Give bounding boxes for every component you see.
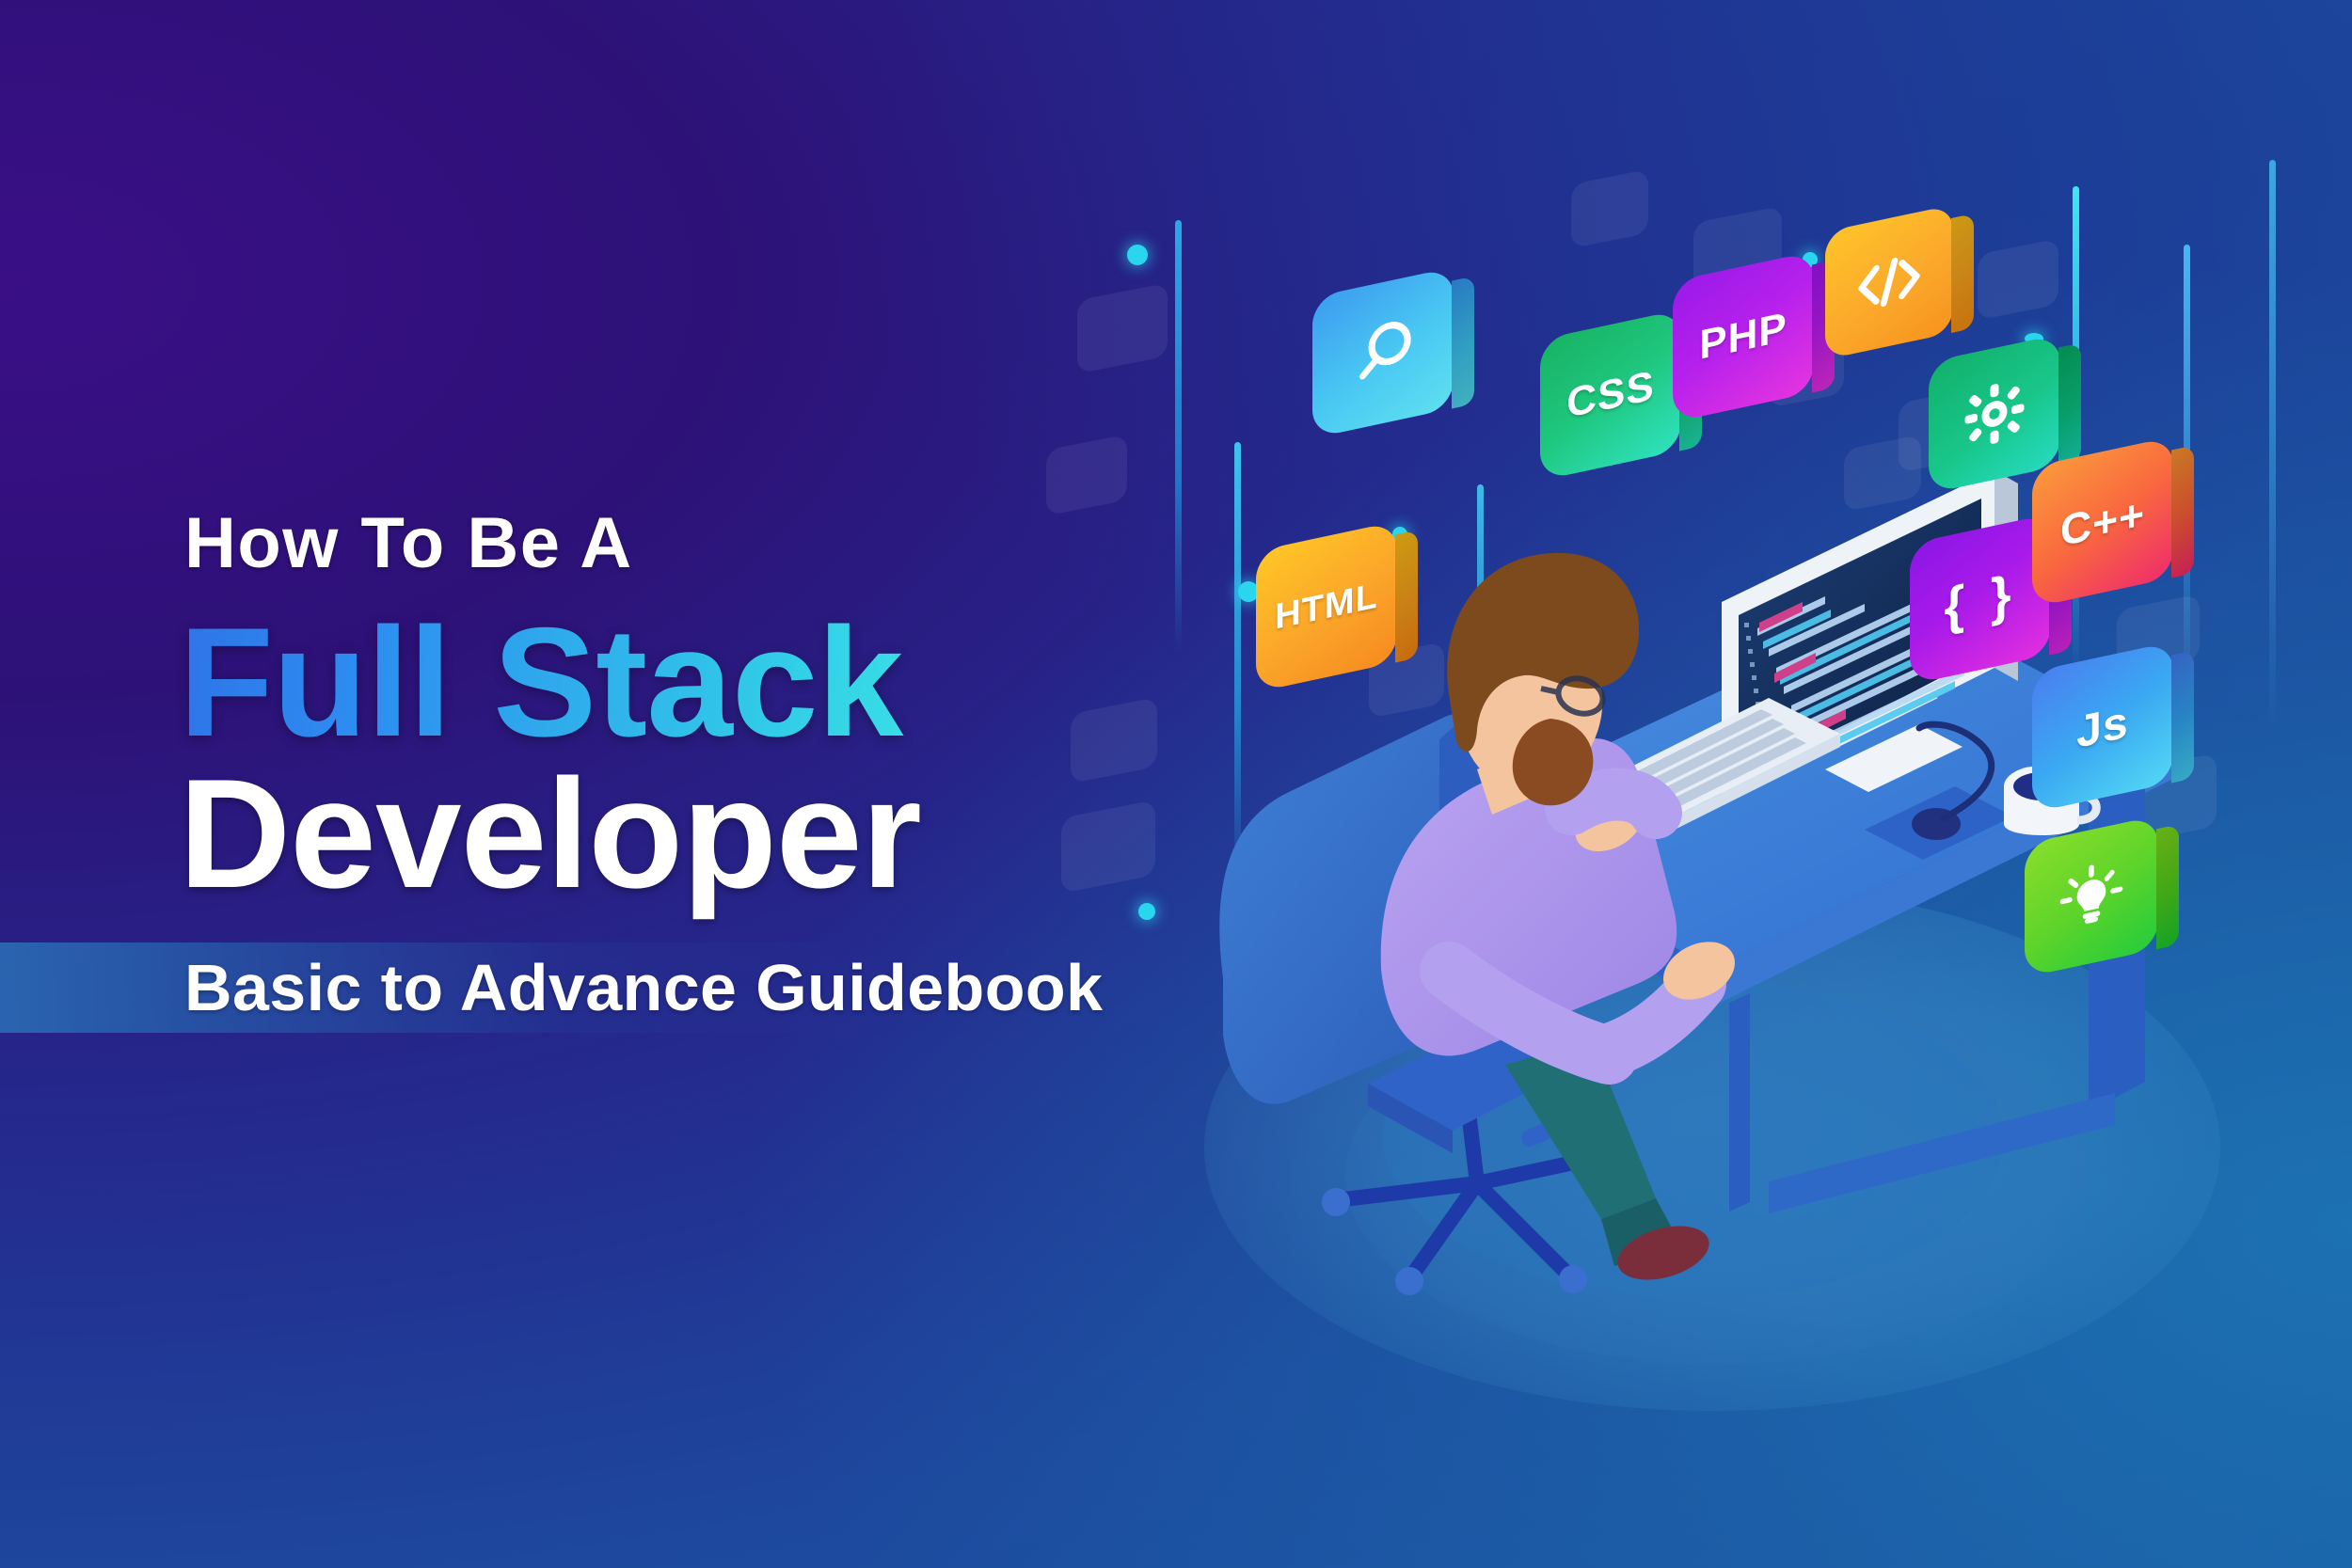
developer-illustration: CSS HTML PHP [1167, 160, 2324, 1402]
html-label: HTML [1275, 576, 1378, 638]
gear-icon [1961, 372, 2028, 454]
php-label: PHP [1699, 304, 1787, 370]
deco-square-1 [1077, 283, 1168, 374]
accent-dot-1 [1127, 245, 1148, 265]
js-label: Js [2076, 696, 2128, 759]
magnifier-icon [1347, 309, 1419, 396]
lightbulb-icon [2058, 857, 2124, 937]
cpp-label: C++ [2060, 487, 2145, 556]
subtitle-text: Basic to Advance Guidebook [184, 948, 1103, 1027]
eyebrow-text: How To Be A [184, 508, 1289, 579]
deco-square-2 [1046, 435, 1127, 516]
hero-banner: How To Be A Full Stack Developer Basic t… [0, 0, 2352, 1568]
css-label: CSS [1566, 362, 1654, 428]
accent-dot-8 [1138, 903, 1155, 920]
curly-braces-icon: { } [1944, 561, 2016, 637]
code-brackets-icon [1852, 245, 1926, 320]
